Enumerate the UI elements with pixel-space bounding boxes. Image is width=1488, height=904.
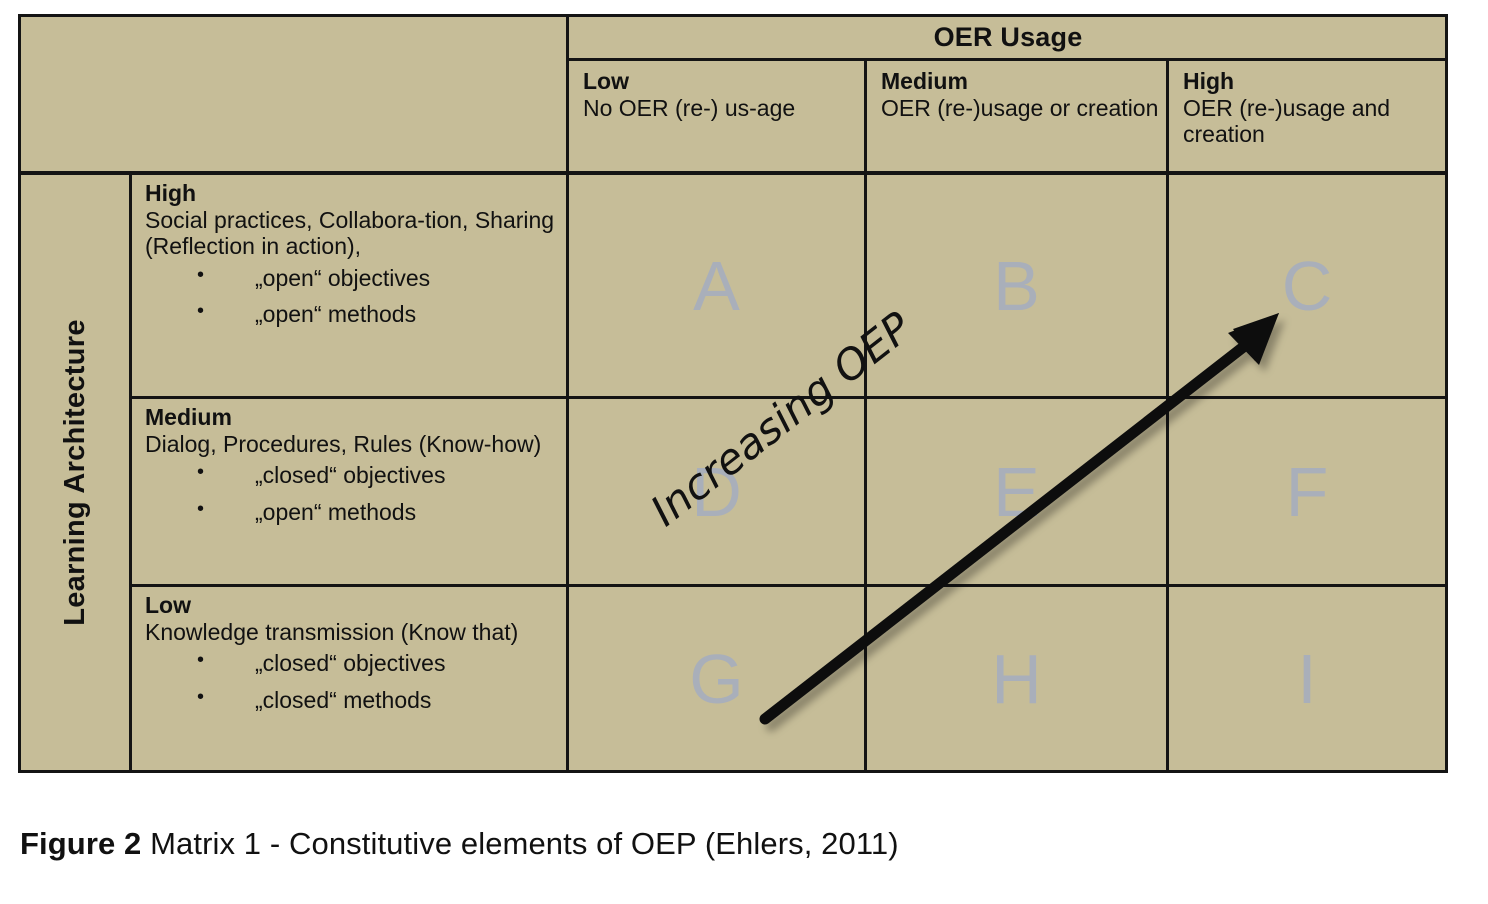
matrix-cell-f: F xyxy=(1169,399,1445,584)
column-header-high: High OER (re-)usage and creation xyxy=(1169,61,1445,171)
column-header-low: Low No OER (re-) us-age xyxy=(569,61,864,171)
row-header-high-bullets: „open“ objectives „open“ methods xyxy=(145,260,560,334)
figure-caption-prefix: Figure 2 xyxy=(20,826,141,861)
row-axis-title-text: Learning Architecture xyxy=(59,319,92,626)
row-header-medium: Medium Dialog, Procedures, Rules (Know-h… xyxy=(132,399,566,584)
column-header-high-description: OER (re-)usage and creation xyxy=(1183,95,1445,148)
oep-matrix-table: OER Usage Low No OER (re-) us-age Medium… xyxy=(18,14,1448,773)
matrix-cell-c: C xyxy=(1169,175,1445,396)
list-item: „open“ methods xyxy=(145,494,560,531)
column-header-medium-level: Medium xyxy=(881,68,1166,95)
column-header-low-level: Low xyxy=(583,68,864,95)
matrix-cell-i: I xyxy=(1169,587,1445,770)
matrix-cell-b: B xyxy=(867,175,1166,396)
list-item: „open“ methods xyxy=(145,296,560,333)
row-header-medium-bullets: „closed“ objectives „open“ methods xyxy=(145,457,560,531)
row-header-low-level: Low xyxy=(145,592,560,619)
column-header-low-description: No OER (re-) us-age xyxy=(583,95,864,122)
row-header-high-description: Social practices, Collabora-tion, Sharin… xyxy=(145,207,560,260)
row-axis-title: Learning Architecture xyxy=(21,175,129,770)
row-header-high: High Social practices, Collabora-tion, S… xyxy=(132,175,566,396)
figure-container: OER Usage Low No OER (re-) us-age Medium… xyxy=(0,0,1488,904)
row-header-low: Low Knowledge transmission (Know that) „… xyxy=(132,587,566,770)
figure-caption-text: Matrix 1 - Constitutive elements of OEP … xyxy=(141,826,898,861)
list-item: „closed“ objectives xyxy=(145,645,560,682)
row-header-low-bullets: „closed“ objectives „closed“ methods xyxy=(145,645,560,719)
row-header-medium-description: Dialog, Procedures, Rules (Know-how) xyxy=(145,431,560,458)
matrix-cell-a: A xyxy=(569,175,864,396)
column-header-high-level: High xyxy=(1183,68,1445,95)
column-header-medium-description: OER (re-)usage or creation xyxy=(881,95,1166,122)
matrix-cell-h: H xyxy=(867,587,1166,770)
matrix-cell-d: D xyxy=(569,399,864,584)
row-header-medium-level: Medium xyxy=(145,404,560,431)
matrix-cell-e: E xyxy=(867,399,1166,584)
row-header-low-description: Knowledge transmission (Know that) xyxy=(145,619,560,646)
column-axis-title: OER Usage xyxy=(568,17,1448,58)
column-header-medium: Medium OER (re-)usage or creation xyxy=(867,61,1166,171)
row-header-high-level: High xyxy=(145,180,560,207)
list-item: „closed“ objectives xyxy=(145,457,560,494)
list-item: „closed“ methods xyxy=(145,682,560,719)
figure-caption: Figure 2 Matrix 1 - Constitutive element… xyxy=(20,826,899,862)
list-item: „open“ objectives xyxy=(145,260,560,297)
matrix-cell-g: G xyxy=(569,587,864,770)
